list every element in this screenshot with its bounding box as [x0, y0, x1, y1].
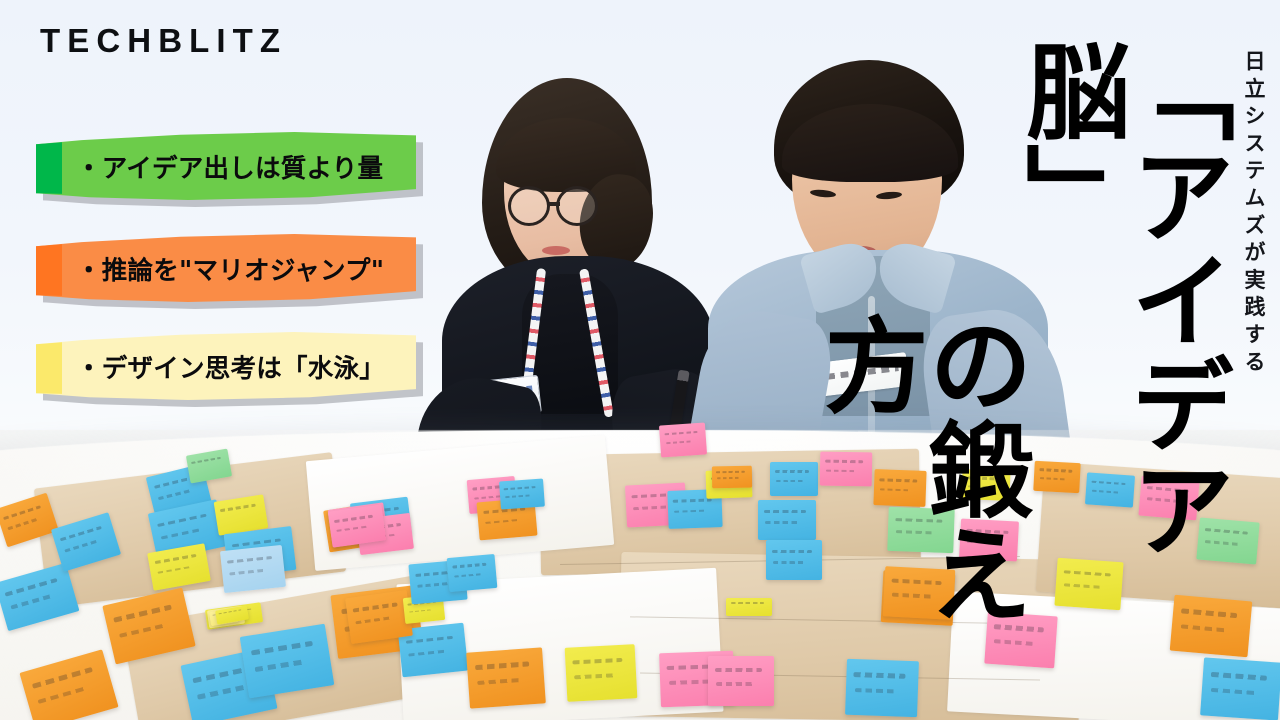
sticky-note [328, 504, 386, 547]
title-column-left: の鍛え方 [815, 312, 1023, 706]
sticky-note [758, 500, 816, 540]
banner-cap [36, 332, 62, 400]
bullet-label-1: ・アイデア出しは質より量 [76, 132, 406, 200]
sticky-note [240, 624, 335, 699]
sticky-note [466, 647, 546, 708]
bullet-label-2: ・推論を"マリオジャンプ" [76, 234, 406, 302]
sticky-note [770, 462, 818, 496]
sticky-note [708, 656, 774, 706]
sticky-note [220, 545, 286, 593]
sticky-note [726, 598, 772, 616]
sticky-note [712, 466, 752, 489]
title-column-right: 「アイデア脳」 [1017, 38, 1225, 706]
headline-block: の鍛え方 「アイデア脳」 日立システムズが実践する [815, 16, 1264, 706]
bullet-banner-3: ・デザイン思考は「水泳」 [36, 332, 416, 400]
banner-cap [36, 234, 62, 302]
sticky-note [565, 644, 638, 702]
poster-canvas: TECHBLITZ ・アイデア出しは質より量 ・推論を"マリオジャンプ" ・デザ… [0, 0, 1280, 720]
glasses-icon [556, 186, 598, 226]
banner-cap [36, 132, 62, 200]
mouth [542, 246, 570, 255]
sticky-note [659, 422, 707, 457]
bullet-banner-2: ・推論を"マリオジャンプ" [36, 234, 416, 302]
glasses-bridge [548, 202, 560, 206]
bullet-label-3: ・デザイン思考は「水泳」 [76, 332, 406, 400]
bullet-banner-1: ・アイデア出しは質より量 [36, 132, 416, 200]
title-kicker: 日立システムズが実践する [1243, 50, 1264, 378]
brand-logo[interactable]: TECHBLITZ [40, 24, 287, 57]
sticky-note [499, 478, 545, 509]
glasses-icon [508, 186, 550, 226]
sticky-note [766, 540, 822, 580]
sticky-note [447, 554, 498, 592]
